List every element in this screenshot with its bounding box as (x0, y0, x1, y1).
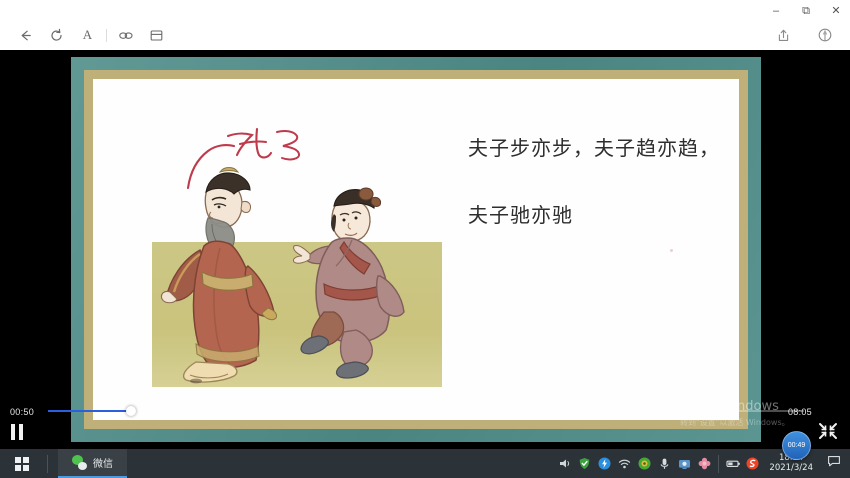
clock-date: 2021/3/24 (769, 464, 813, 474)
compass-icon (817, 27, 833, 43)
browser-chrome: – ⧉ ✕ A (0, 0, 850, 50)
taskbar-item-label: 微信 (93, 455, 113, 470)
refresh-button[interactable] (41, 23, 72, 47)
floating-timer-badge[interactable]: 00:49 (782, 431, 811, 460)
link-icon (118, 28, 134, 43)
close-button[interactable]: ✕ (828, 3, 844, 19)
refresh-icon (49, 28, 64, 43)
stray-ink-dot (670, 249, 673, 252)
share-icon (776, 28, 791, 43)
pause-bar-left (11, 424, 15, 440)
browser-toolbar-left: A (10, 23, 172, 47)
browser-button[interactable] (809, 23, 840, 47)
current-time-label: 00:50 (10, 407, 34, 417)
battery-icon[interactable] (726, 457, 739, 470)
action-center-button[interactable] (824, 449, 844, 478)
slide-gold-frame: 夫子步亦步，夫子趋亦趋， 夫子驰亦驰 (84, 70, 748, 429)
wechat-icon (72, 455, 87, 470)
windows-logo-icon (15, 457, 29, 471)
chat-bubble-icon (827, 454, 841, 473)
confucius-and-disciple-illustration (152, 162, 442, 387)
font-size-icon: A (83, 27, 92, 43)
text-size-button[interactable]: A (72, 23, 103, 47)
toolbar-divider (106, 29, 107, 42)
slide-text-line-2: 夫子驰亦驰 (468, 204, 739, 226)
presentation-slide: 夫子步亦步，夫子趋亦趋， 夫子驰亦驰 (71, 57, 761, 442)
video-player-controls: 00:50 08:05 (0, 394, 850, 449)
shield-icon[interactable] (578, 457, 591, 470)
share-button[interactable] (768, 23, 799, 47)
duration-label: 08:05 (788, 407, 812, 417)
slide-text-line-1: 夫子步亦步，夫子趋亦趋， (468, 137, 739, 159)
progress-bar-filled (48, 410, 131, 412)
speaker-icon[interactable] (558, 457, 571, 470)
taskbar-divider (47, 455, 48, 473)
microphone-icon[interactable] (658, 457, 671, 470)
back-button[interactable] (10, 23, 41, 47)
link-button[interactable] (110, 23, 141, 47)
split-view-button[interactable] (141, 23, 172, 47)
tray-divider (718, 455, 719, 473)
minimize-button[interactable]: – (768, 3, 784, 19)
progress-bar[interactable] (48, 410, 804, 412)
browser-toolbar-right (768, 23, 840, 47)
timer-badge-label: 00:49 (788, 442, 806, 449)
elder-confucius-figure (160, 162, 300, 387)
flower-icon[interactable] (698, 457, 711, 470)
progress-bar-handle[interactable] (126, 406, 136, 416)
flash-icon[interactable] (598, 457, 611, 470)
window-controls: – ⧉ ✕ (768, 2, 844, 20)
restore-button[interactable]: ⧉ (798, 3, 814, 19)
young-disciple-figure (292, 180, 422, 385)
wifi-icon[interactable] (618, 457, 631, 470)
snipaste-icon[interactable] (746, 457, 759, 470)
slide-text-block: 夫子步亦步，夫子趋亦趋， 夫子驰亦驰 (468, 137, 739, 226)
arrow-left-icon (18, 28, 33, 43)
split-view-icon (149, 28, 164, 43)
pause-bar-right (19, 424, 23, 440)
monitor-icon[interactable] (678, 457, 691, 470)
taskbar-item-wechat[interactable]: 微信 (58, 449, 127, 478)
slide-canvas: 夫子步亦步，夫子趋亦趋， 夫子驰亦驰 (93, 79, 739, 420)
exit-fullscreen-icon (818, 427, 838, 444)
pause-button[interactable] (11, 423, 31, 441)
video-player-stage[interactable]: 夫子步亦步，夫子趋亦趋， 夫子驰亦驰 激活 Windows 转到"设置"以激活 … (0, 50, 850, 449)
exit-fullscreen-button[interactable] (818, 422, 840, 442)
orb-icon[interactable] (638, 457, 651, 470)
start-button[interactable] (0, 449, 43, 478)
windows-taskbar: 微信 (0, 449, 850, 478)
